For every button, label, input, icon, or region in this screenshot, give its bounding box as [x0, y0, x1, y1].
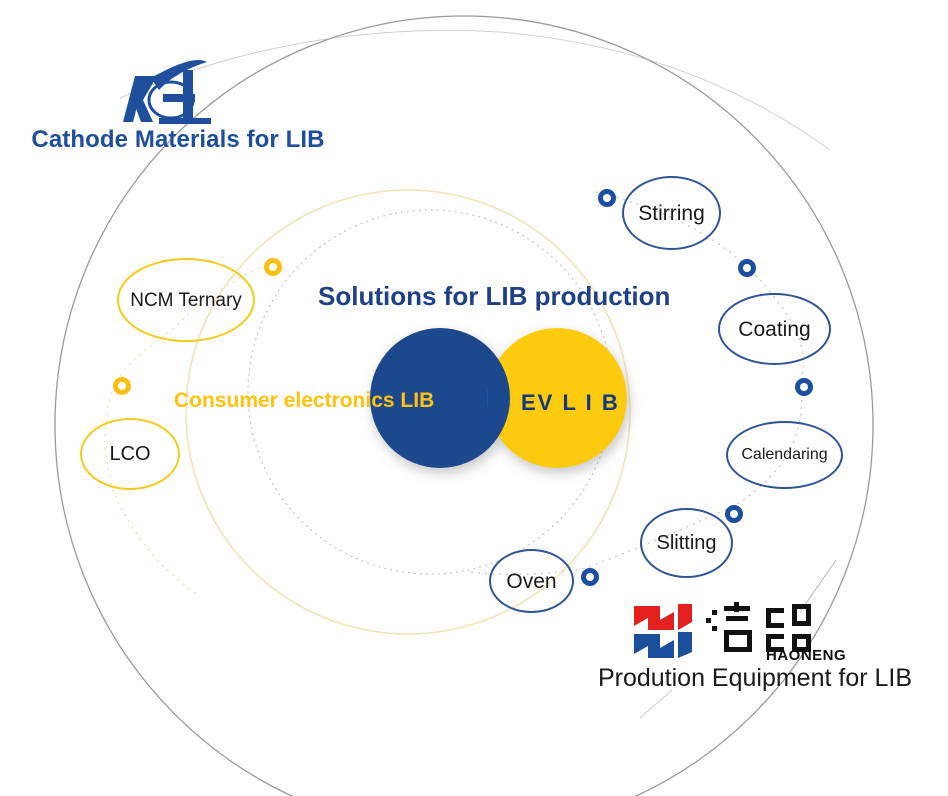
node-label: Coating	[738, 319, 810, 340]
node-oven[interactable]: Oven	[489, 549, 574, 613]
brand-cathode-materials: Cathode Materials for LIB	[8, 60, 348, 154]
node-label: NCM Ternary	[130, 291, 242, 310]
connector-dot-oven	[581, 568, 599, 586]
node-slitting[interactable]: Slitting	[640, 508, 733, 578]
diagram-title: Solutions for LIB production	[318, 281, 670, 312]
connector-dot-coating	[738, 259, 756, 277]
brand-production-equipment: HAONENG Prodution Equipment for LIB	[570, 600, 940, 693]
haoneng-logo-icon: HAONENG	[630, 600, 880, 662]
connector-dot-lco	[113, 377, 131, 395]
connector-dot-slitting	[725, 505, 743, 523]
node-label: Calendaring	[741, 447, 827, 463]
node-label: LCO	[109, 444, 150, 464]
node-label: Slitting	[656, 533, 716, 553]
kh-logo-icon	[113, 60, 243, 130]
node-coating[interactable]: Coating	[718, 293, 831, 365]
node-label: Oven	[506, 571, 556, 592]
node-ncm-ternary[interactable]: NCM Ternary	[117, 258, 255, 342]
node-stirring[interactable]: Stirring	[622, 176, 721, 250]
cathode-brand-caption: Cathode Materials for LIB	[8, 126, 348, 154]
node-calendaring[interactable]: Calendaring	[726, 421, 843, 489]
connector-dot-stirring	[598, 189, 616, 207]
haoneng-latin-text: HAONENG	[766, 647, 846, 662]
node-lco[interactable]: LCO	[80, 418, 180, 490]
node-label: Stirring	[638, 203, 705, 224]
diagram-canvas: Cathode Materials for LIB	[0, 0, 948, 796]
connector-dot-ncm	[264, 258, 282, 276]
haoneng-leader-line-2	[640, 690, 672, 718]
equipment-brand-caption: Prodution Equipment for LIB	[570, 664, 940, 693]
venn-label-consumer: Consumer electronics LIB	[174, 389, 434, 413]
venn-label-ev: EV L I B	[521, 390, 620, 416]
connector-dot-calendaring	[795, 378, 813, 396]
